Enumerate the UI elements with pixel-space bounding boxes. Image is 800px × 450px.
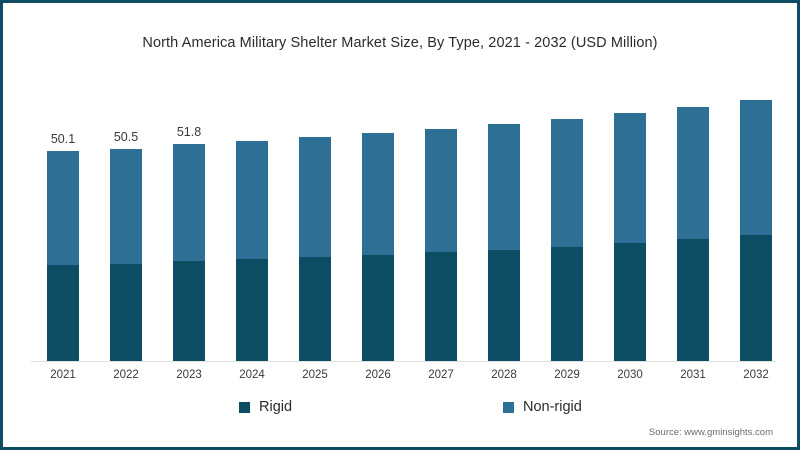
bar-segment-non-rigid [488, 124, 520, 249]
bar-segment-rigid [488, 250, 520, 361]
bar-segment-non-rigid [362, 133, 394, 255]
bar-segment-rigid [236, 259, 268, 361]
bar-segment-non-rigid [47, 151, 79, 265]
bar-segment-rigid [299, 257, 331, 361]
bar-segment-non-rigid [740, 100, 772, 235]
bar-segment-non-rigid [299, 137, 331, 257]
chart-canvas: North America Military Shelter Market Si… [0, 0, 800, 450]
x-axis-tick-2031: 2031 [658, 369, 728, 381]
legend-label: Non-rigid [523, 399, 582, 415]
x-axis-tick-2024: 2024 [217, 369, 287, 381]
bar-group [236, 141, 268, 361]
bar-value-label: 50.5 [91, 130, 161, 144]
bar-segment-rigid [47, 265, 79, 361]
legend-swatch-icon [239, 402, 250, 413]
bar-segment-rigid [740, 235, 772, 361]
bar-segment-rigid [614, 243, 646, 361]
bar-group: 50.1 [47, 151, 79, 361]
bar-group: 50.5 [110, 149, 142, 361]
x-axis-tick-2029: 2029 [532, 369, 602, 381]
legend-swatch-icon [503, 402, 514, 413]
bar-segment-non-rigid [551, 119, 583, 246]
bar-segment-rigid [551, 247, 583, 361]
bar-segment-rigid [677, 239, 709, 361]
bar-segment-rigid [425, 252, 457, 361]
x-axis-tick-2026: 2026 [343, 369, 413, 381]
x-axis-tick-2023: 2023 [154, 369, 224, 381]
x-axis-tick-2027: 2027 [406, 369, 476, 381]
chart-legend: RigidNon-rigid [3, 399, 797, 423]
bar-group [488, 124, 520, 361]
bar-group [362, 133, 394, 361]
bar-group [614, 113, 646, 361]
bar-segment-non-rigid [236, 141, 268, 259]
x-axis-tick-2022: 2022 [91, 369, 161, 381]
bar-group [677, 107, 709, 361]
source-attribution: Source: www.gminsights.com [649, 427, 773, 438]
legend-item-non-rigid[interactable]: Non-rigid [503, 399, 582, 415]
x-axis-tick-2032: 2032 [721, 369, 791, 381]
bar-group: 51.8 [173, 144, 205, 361]
bar-group [740, 100, 772, 361]
legend-label: Rigid [259, 399, 292, 415]
plot-area: 50.150.551.8 202120222023202420252026202… [3, 3, 797, 447]
x-axis-tick-2030: 2030 [595, 369, 665, 381]
bar-group [551, 119, 583, 361]
bar-value-label: 50.1 [28, 132, 98, 146]
bar-segment-non-rigid [425, 129, 457, 252]
bar-segment-non-rigid [173, 144, 205, 261]
bar-group [299, 137, 331, 361]
bar-segment-rigid [110, 264, 142, 361]
x-axis-tick-2021: 2021 [28, 369, 98, 381]
bar-value-label: 51.8 [154, 125, 224, 139]
bar-segment-non-rigid [677, 107, 709, 239]
x-axis-tick-2025: 2025 [280, 369, 350, 381]
bar-segment-non-rigid [110, 149, 142, 263]
x-axis-tick-2028: 2028 [469, 369, 539, 381]
bar-segment-rigid [362, 255, 394, 361]
legend-item-rigid[interactable]: Rigid [239, 399, 292, 415]
bar-group [425, 129, 457, 361]
bar-segment-rigid [173, 261, 205, 361]
x-axis-line [31, 361, 776, 362]
bar-segment-non-rigid [614, 113, 646, 243]
